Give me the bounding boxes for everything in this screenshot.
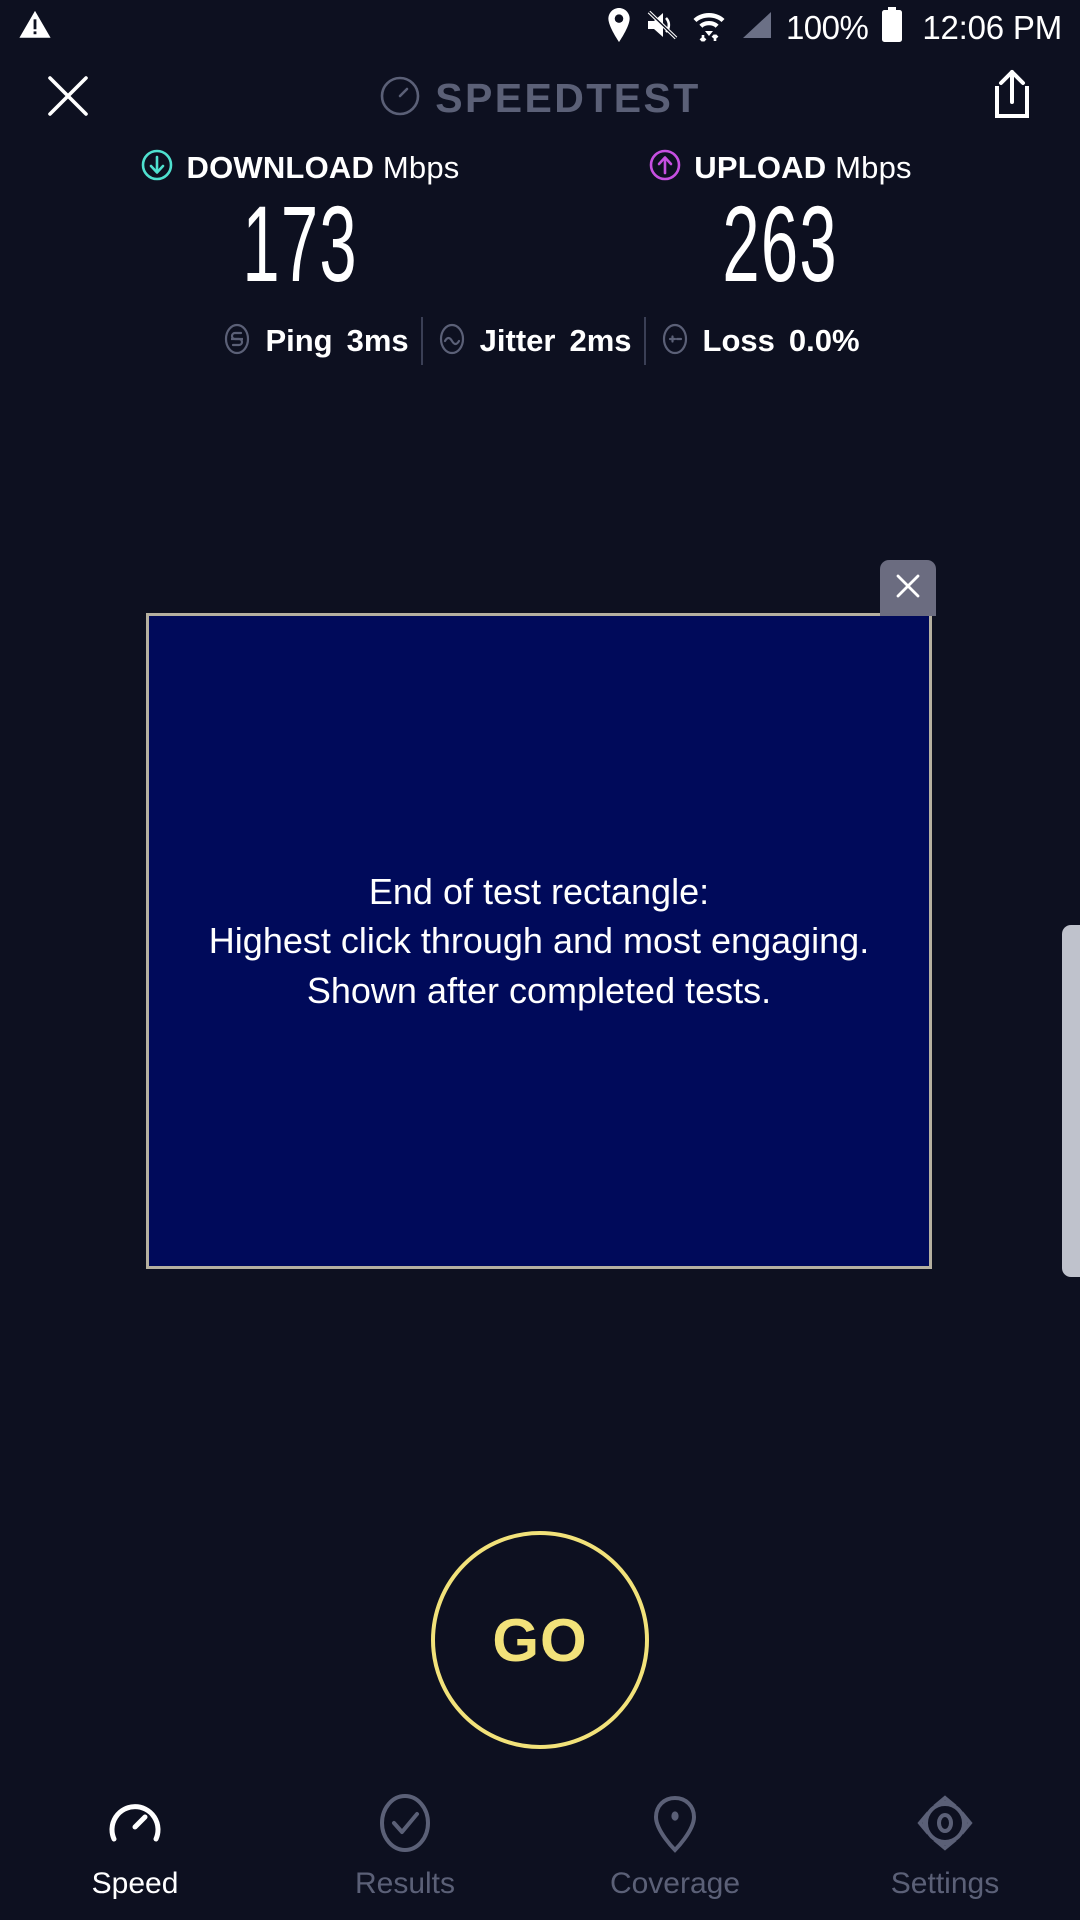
warning-triangle-icon (18, 8, 52, 47)
close-icon (44, 72, 92, 125)
speedtest-app-screen: 100% 12:06 PM SPEEDTEST (0, 0, 1080, 1920)
advertisement-container: End of test rectangle: Highest click thr… (146, 613, 932, 1269)
loss-label: Loss (703, 323, 775, 359)
map-pin-icon (644, 1789, 706, 1857)
download-label-row: DOWNLOAD Mbps (140, 148, 459, 187)
check-circle-icon (374, 1789, 436, 1857)
status-bar: 100% 12:06 PM (0, 0, 1080, 55)
nav-label-coverage: Coverage (610, 1867, 740, 1901)
jitter-metric: Jitter 2ms (423, 322, 644, 361)
upload-value: 263 (722, 189, 837, 299)
upload-result: UPLOAD Mbps 263 (570, 148, 990, 299)
speedometer-icon (104, 1789, 166, 1857)
status-bar-left (18, 8, 52, 47)
speedometer-icon (379, 75, 421, 122)
download-value: 173 (242, 189, 357, 299)
share-icon (988, 68, 1036, 129)
jitter-label: Jitter (480, 323, 556, 359)
gear-icon (914, 1789, 976, 1857)
location-pin-icon (606, 8, 632, 47)
status-bar-right: 100% 12:06 PM (606, 7, 1062, 48)
cellular-signal-icon (739, 10, 773, 45)
nav-item-speed[interactable]: Speed (0, 1775, 270, 1920)
ad-text: End of test rectangle: Highest click thr… (191, 867, 887, 1015)
app-header: SPEEDTEST (0, 58, 1080, 138)
battery-percent-label: 100% (786, 9, 868, 47)
nav-item-settings[interactable]: Settings (810, 1775, 1080, 1920)
nav-item-results[interactable]: Results (270, 1775, 540, 1920)
ping-icon (220, 322, 254, 361)
upload-label-row: UPLOAD Mbps (648, 148, 912, 187)
battery-full-icon (881, 7, 903, 48)
clock-label: 12:06 PM (922, 9, 1062, 47)
jitter-value: 2ms (569, 323, 631, 359)
nav-label-speed: Speed (92, 1867, 179, 1901)
vertical-scrollbar[interactable] (1062, 925, 1080, 1277)
download-arrow-icon (140, 148, 174, 187)
ping-value: 3ms (347, 323, 409, 359)
upload-arrow-icon (648, 148, 682, 187)
speed-results-row: DOWNLOAD Mbps 173 UPLOAD Mbps 263 (0, 148, 1080, 299)
nav-label-results: Results (355, 1867, 455, 1901)
scrollbar-thumb[interactable] (1062, 925, 1080, 1277)
loss-icon (658, 322, 692, 361)
upload-label: UPLOAD Mbps (694, 150, 912, 186)
go-button[interactable]: GO (431, 1531, 649, 1749)
advertisement-banner[interactable]: End of test rectangle: Highest click thr… (146, 613, 932, 1269)
mute-icon (645, 10, 679, 45)
wifi-data-icon (692, 7, 726, 48)
ad-line: Highest click through and most engaging. (209, 916, 869, 965)
test-results-panel: DOWNLOAD Mbps 173 UPLOAD Mbps 263 (0, 148, 1080, 365)
page-title: SPEEDTEST (435, 75, 700, 122)
close-icon (891, 569, 925, 608)
ping-label: Ping (265, 323, 332, 359)
go-button-label: GO (492, 1606, 587, 1675)
download-result: DOWNLOAD Mbps 173 (90, 148, 510, 299)
loss-value: 0.0% (789, 323, 860, 359)
ad-line: Shown after completed tests. (209, 966, 869, 1015)
download-label: DOWNLOAD Mbps (186, 150, 459, 186)
share-button[interactable] (984, 68, 1040, 128)
nav-label-settings: Settings (891, 1867, 999, 1901)
close-button[interactable] (40, 70, 96, 126)
ping-metric: Ping 3ms (208, 322, 420, 361)
app-logo: SPEEDTEST (0, 58, 1080, 138)
ad-line: End of test rectangle: (209, 867, 869, 916)
jitter-icon (435, 322, 469, 361)
ad-close-button[interactable] (880, 560, 936, 616)
nav-item-coverage[interactable]: Coverage (540, 1775, 810, 1920)
network-metrics-row: Ping 3ms Jitter 2ms (0, 317, 1080, 365)
bottom-navigation-bar: Speed Results Coverage (0, 1775, 1080, 1920)
loss-metric: Loss 0.0% (646, 322, 872, 361)
